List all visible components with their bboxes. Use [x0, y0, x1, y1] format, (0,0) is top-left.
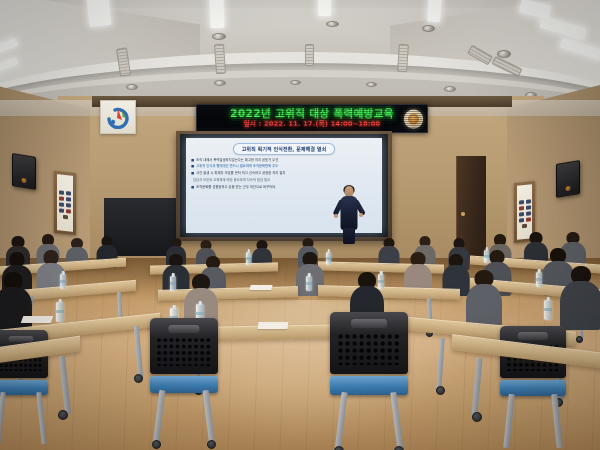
- water-bottle: [544, 300, 552, 320]
- water-bottle: [326, 252, 331, 265]
- bullet-text: 고위직 인식과 행태개선 반드시 필요하며 조직문화변화 주도: [196, 164, 278, 168]
- slide-bullet: ■ 조직 내에서 폭력발생하지않는다는 확고한 의지 공표가 우선: [191, 158, 377, 162]
- door-knob[interactable]: [461, 212, 465, 216]
- bullet-marker: ■: [191, 158, 194, 162]
- chair-backrest: [330, 312, 408, 374]
- chair-backrest: [150, 318, 218, 374]
- lecturer-legs: [343, 228, 355, 244]
- handout-paper: [249, 285, 272, 290]
- chair-leg: [551, 394, 563, 448]
- ceiling-speaker: [366, 82, 377, 87]
- table-caster: [472, 412, 482, 422]
- ceiling-speaker: [214, 80, 226, 86]
- ceiling-speaker: [290, 80, 301, 85]
- table-caster: [134, 374, 143, 383]
- led-banner-subtitle: 일시 : 2022. 11. 17.(목) 14:00~18:00: [244, 121, 381, 128]
- bullet-text: 조직문화를 성평등하고 존중 받는 근무 여건으로 바꾸어야: [196, 185, 275, 189]
- table-caster: [58, 410, 68, 420]
- attendee-body: [466, 284, 502, 328]
- wall-speaker-left: [12, 153, 36, 190]
- ceiling-speaker: [212, 33, 226, 40]
- slide-bullet: ■ 사건 발생 시 피해자 보호를 먼저 하고 신속하고 공정한 처리 절차: [191, 171, 377, 175]
- bullet-marker: ■: [191, 171, 194, 175]
- wall-speaker-right: [556, 160, 580, 198]
- slide-title: 고위직 획기적 인식전환, 문제해결 열쇠: [233, 143, 336, 155]
- bullet-marker: ■: [191, 185, 194, 189]
- slide-bullet: 담당자 보호와 교육체계 마련 중요하며 지속적 점검 필요: [191, 178, 377, 182]
- institution-emblem: [404, 109, 423, 128]
- table-caster: [436, 386, 445, 395]
- handout-paper: [258, 322, 289, 329]
- attendee: [466, 270, 502, 328]
- water-bottle: [170, 276, 176, 291]
- bullet-text: 조직 내에서 폭력발생하지않는다는 확고한 의지 공표가 우선: [196, 158, 278, 162]
- chair-perforations: [156, 337, 212, 366]
- chair-leg: [0, 392, 6, 444]
- led-banner: 2022년 고위직 대상 폭력예방교육 일시 : 2022. 11. 17.(목…: [196, 104, 428, 133]
- chair-leg: [203, 390, 216, 446]
- bullet-marker: ■: [191, 164, 194, 168]
- chair-leg: [503, 394, 515, 448]
- ceiling-light: [318, 0, 331, 16]
- chair-leg: [36, 392, 46, 444]
- air-vent: [397, 44, 409, 73]
- chair-leg: [153, 390, 166, 446]
- chair[interactable]: [150, 318, 218, 444]
- table-caster: [576, 336, 583, 343]
- lecturer: [338, 186, 360, 244]
- air-vent: [305, 44, 314, 66]
- organization-logo-icon: [105, 105, 131, 129]
- ceiling-speaker: [126, 84, 138, 90]
- bullet-text: 담당자 보호와 교육체계 마련 중요하며 지속적 점검 필요: [193, 178, 270, 182]
- led-banner-title: 2022년 고위직 대상 폭력예방교육: [230, 109, 394, 120]
- chair-caster: [394, 446, 404, 450]
- chair-leg: [390, 392, 403, 450]
- organization-logo: [100, 100, 136, 134]
- ceiling-speaker: [497, 50, 511, 58]
- chair-caster: [207, 440, 216, 449]
- chair[interactable]: [330, 312, 408, 448]
- ceiling-light: [86, 0, 111, 27]
- attendee-body: [560, 281, 600, 330]
- water-bottle: [306, 276, 312, 291]
- lecturer-left-hand: [334, 214, 338, 218]
- ceiling-light: [427, 0, 442, 22]
- chair-caster: [334, 446, 344, 450]
- ceiling-speaker: [326, 21, 339, 27]
- ceiling-speaker: [422, 25, 435, 32]
- air-vent: [214, 44, 226, 75]
- bullet-text: 사건 발생 시 피해자 보호를 먼저 하고 신속하고 공정한 처리 절차: [196, 171, 285, 175]
- lecturer-right-hand: [359, 213, 363, 217]
- water-bottle: [246, 252, 251, 265]
- slide-bullet: ■ 고위직 인식과 행태개선 반드시 필요하며 조직문화변화 주도: [191, 164, 377, 168]
- attendee: [560, 266, 600, 330]
- conference-photo: 2022년 고위직 대상 폭력예방교육 일시 : 2022. 11. 17.(목…: [0, 0, 600, 450]
- chair-caster: [152, 440, 161, 449]
- chair-leg: [334, 392, 347, 450]
- chair-perforations: [337, 333, 401, 365]
- ceiling-light: [209, 0, 224, 28]
- water-bottle: [60, 274, 66, 289]
- water-bottle: [56, 302, 64, 322]
- handout-paper: [21, 316, 54, 323]
- attendee-body: [0, 287, 32, 330]
- ceiling-speaker: [444, 86, 456, 92]
- water-bottle: [536, 272, 542, 287]
- calligraphy-scroll-left: [54, 171, 76, 235]
